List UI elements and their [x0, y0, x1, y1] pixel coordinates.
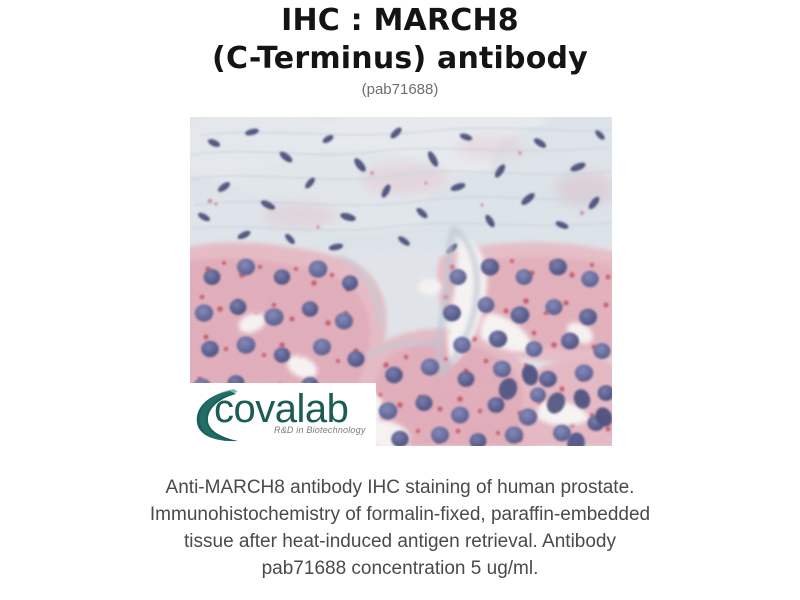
title-line-1: IHC : MARCH8 — [0, 2, 800, 40]
page-title: IHC : MARCH8 (C-Terminus) antibody (pab7… — [0, 2, 800, 100]
logo-tagline: R&D in Biotechnology — [274, 425, 366, 435]
caption-line: Anti-MARCH8 antibody IHC staining of hum… — [60, 474, 740, 501]
covalab-logo: covalab R&D in Biotechnology — [190, 383, 376, 446]
figure-page: IHC : MARCH8 (C-Terminus) antibody (pab7… — [0, 0, 800, 600]
figure-caption: Anti-MARCH8 antibody IHC staining of hum… — [60, 474, 740, 582]
title-line-2: (C-Terminus) antibody — [0, 40, 800, 78]
catalog-number: (pab71688) — [0, 80, 800, 100]
caption-line: Immunohistochemistry of formalin-fixed, … — [60, 501, 740, 528]
caption-line: tissue after heat-induced antigen retrie… — [60, 528, 740, 555]
caption-line: pab71688 concentration 5 ug/ml. — [60, 555, 740, 582]
